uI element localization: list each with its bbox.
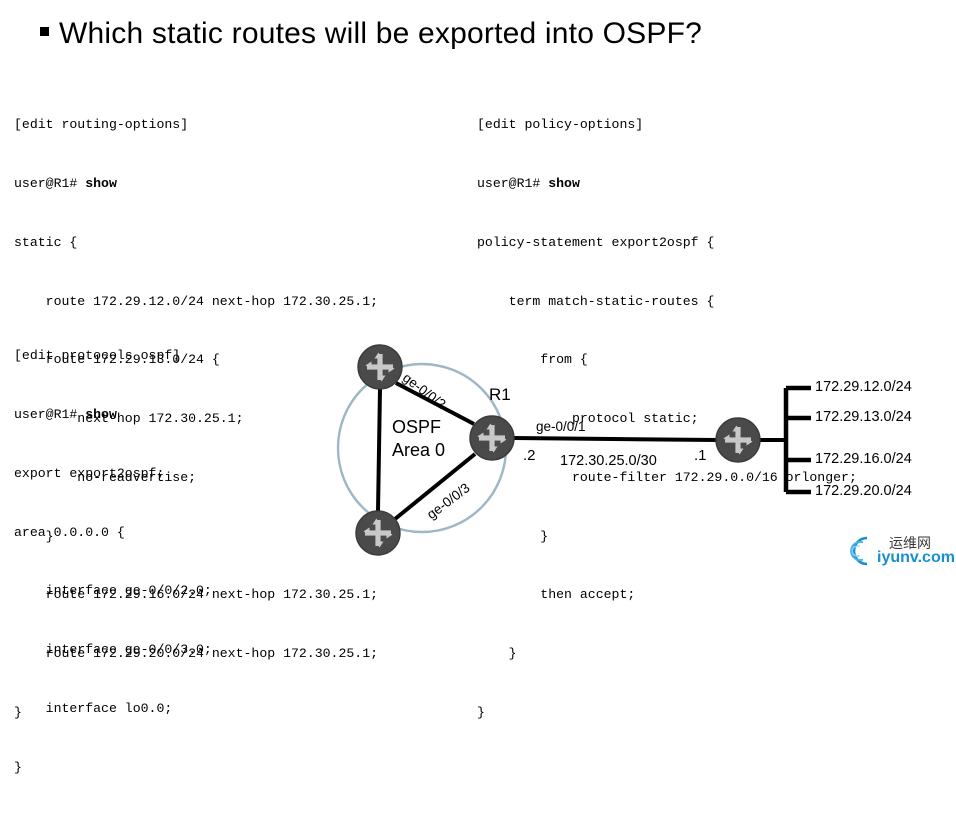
cli-prompt-line: user@R1# show <box>477 174 857 194</box>
area-label-line2: Area 0 <box>392 440 445 461</box>
cli-prompt-line: user@R1# show <box>14 405 212 425</box>
network-label: 172.29.16.0/24 <box>815 451 912 467</box>
interface-label-ge-0-0-1: ge-0/0/1 <box>536 419 586 434</box>
interface-label-ge-0-0-2: ge-0/0/2 <box>400 370 449 412</box>
network-label: 172.29.13.0/24 <box>815 409 912 425</box>
square-bullet-icon <box>40 27 49 36</box>
cli-line: } <box>477 644 857 664</box>
network-label: 172.29.12.0/24 <box>815 379 912 395</box>
watermark-text: 运维网 iyunv.com <box>877 533 949 569</box>
cli-prompt-path: [edit routing-options] <box>14 115 378 135</box>
watermark: 运维网 iyunv.com <box>843 532 953 570</box>
cli-prompt-line: user@R1# show <box>14 174 378 194</box>
cli-line: route-filter 172.29.0.0/16 orlonger; <box>477 468 857 488</box>
cli-prompt-command: show <box>85 176 117 191</box>
cli-line: area 0.0.0.0 { <box>14 523 212 543</box>
interface-label-ge-0-0-3: ge-0/0/3 <box>424 480 473 522</box>
cli-line: interface ge-0/0/2.0; <box>14 581 212 601</box>
cli-line: policy-statement export2ospf { <box>477 233 857 253</box>
cli-line: } <box>14 758 212 778</box>
cli-block-policy-options: [edit policy-options] user@R1# show poli… <box>477 76 857 762</box>
cli-prompt-user: user@R1# <box>477 176 548 191</box>
network-label: 172.29.20.0/24 <box>815 483 912 499</box>
cli-prompt-user: user@R1# <box>14 407 85 422</box>
cli-prompt-command: show <box>85 407 117 422</box>
cli-line: } <box>477 703 857 723</box>
cli-prompt-path: [edit protocols ospf] <box>14 346 212 366</box>
page-title: Which static routes will be exported int… <box>40 17 702 51</box>
cli-line: term match-static-routes { <box>477 292 857 312</box>
slide-canvas: Which static routes will be exported int… <box>0 0 956 571</box>
watermark-domain-text: iyunv.com <box>877 549 955 567</box>
router-label-r1: R1 <box>489 385 511 405</box>
iyunv-logo-icon <box>843 534 875 568</box>
cli-line: static { <box>14 233 378 253</box>
cli-line: export export2ospf; <box>14 464 212 484</box>
cli-line: from { <box>477 350 857 370</box>
cli-line: then accept; <box>477 585 857 605</box>
cli-line: interface ge-0/0/3.0; <box>14 640 212 660</box>
cli-prompt-path: [edit policy-options] <box>477 115 857 135</box>
page-title-text: Which static routes will be exported int… <box>59 17 702 51</box>
link-top-to-bottom <box>378 389 380 511</box>
cli-line: interface lo0.0; <box>14 699 212 719</box>
cli-block-protocols-ospf: [edit protocols ospf] user@R1# show expo… <box>14 307 212 816</box>
cli-prompt-user: user@R1# <box>14 176 85 191</box>
address-suffix-r1: .2 <box>523 447 536 464</box>
cli-prompt-command: show <box>548 176 580 191</box>
address-suffix-peer: .1 <box>694 447 707 464</box>
wan-subnet-label: 172.30.25.0/30 <box>560 453 657 469</box>
cli-line: } <box>477 527 857 547</box>
cli-line: protocol static; <box>477 409 857 429</box>
area-label-line1: OSPF <box>392 417 441 438</box>
